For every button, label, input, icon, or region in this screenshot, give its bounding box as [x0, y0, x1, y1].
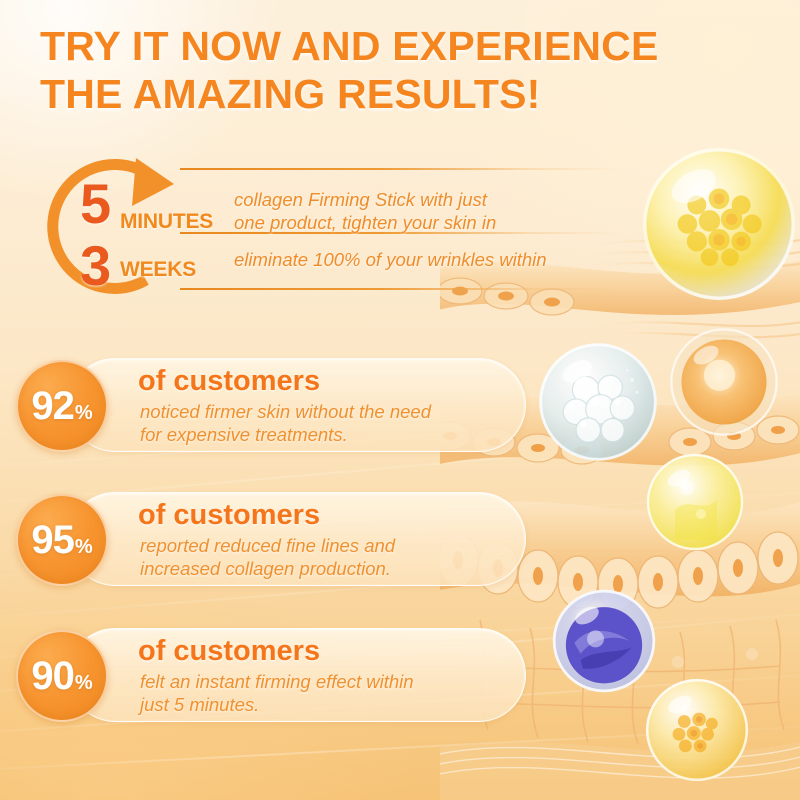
stat-value-90: 90	[31, 656, 74, 696]
timing-unit-weeks: WEEKS	[120, 258, 196, 282]
stat-symbol-90: %	[75, 673, 93, 693]
timing-unit-minutes: MINUTES	[120, 210, 213, 234]
stat-title-95: of customers	[138, 500, 320, 532]
stat-body-95: reported reduced fine lines and increase…	[140, 534, 520, 581]
stat-body-90: felt an instant firming effect within ju…	[140, 670, 520, 717]
stat-percent-95: 95 %	[31, 520, 92, 560]
stat-percent-92: 92 %	[31, 386, 92, 426]
stat-body-92-line1: noticed firmer skin without the need	[140, 400, 520, 423]
headline-line-2: THE AMAZING RESULTS!	[40, 70, 740, 118]
stat-body-92-line2: for expensive treatments.	[140, 423, 520, 446]
stat-body-95-line2: increased collagen production.	[140, 557, 520, 580]
headline-line-1: TRY IT NOW AND EXPERIENCE	[40, 22, 740, 70]
amber-bubble-icon	[668, 326, 780, 438]
stat-body-90-line1: felt an instant firming effect within	[140, 670, 520, 693]
timing-number-minutes: 5	[80, 176, 111, 232]
page-title: TRY IT NOW AND EXPERIENCE THE AMAZING RE…	[40, 22, 740, 119]
stat-percent-90: 90 %	[31, 656, 92, 696]
stat-badge-92: 92 %	[16, 360, 108, 452]
stat-body-90-line2: just 5 minutes.	[140, 693, 520, 716]
stat-symbol-92: %	[75, 403, 93, 423]
stat-symbol-95: %	[75, 537, 93, 557]
divider-bottom	[180, 288, 620, 290]
stat-value-95: 95	[31, 520, 74, 560]
yellow-serum-bubble-icon	[645, 452, 745, 552]
stat-body-92: noticed firmer skin without the need for…	[140, 400, 520, 447]
stat-title-92: of customers	[138, 366, 320, 398]
stat-card-90: 90 % of customers felt an instant firmin…	[16, 628, 526, 722]
poster-canvas: TRY IT NOW AND EXPERIENCE THE AMAZING RE…	[0, 0, 800, 800]
blue-swirl-bubble-icon	[551, 588, 657, 694]
timing-number-weeks: 3	[80, 238, 111, 294]
honeycomb-bubble-bottom-icon	[644, 677, 750, 783]
divider-top	[180, 168, 620, 170]
timing-desc-minutes-line2: one product, tighten your skin in	[234, 211, 496, 234]
timing-desc-minutes-line1: collagen Firming Stick with just	[234, 188, 496, 211]
stat-value-92: 92	[31, 386, 74, 426]
stat-body-95-line1: reported reduced fine lines and	[140, 534, 520, 557]
stat-badge-90: 90 %	[16, 630, 108, 722]
timing-desc-minutes: collagen Firming Stick with just one pro…	[234, 188, 496, 235]
stat-card-95: 95 % of customers reported reduced fine …	[16, 492, 526, 586]
water-droplet-bubble-icon	[537, 341, 659, 463]
stat-badge-95: 95 %	[16, 494, 108, 586]
honeycomb-bubble-top-icon	[640, 145, 798, 303]
timing-desc-weeks: eliminate 100% of your wrinkles within	[234, 248, 547, 271]
timing-claims-block: 5 MINUTES collagen Firming Stick with ju…	[28, 148, 648, 308]
timing-desc-weeks-line1: eliminate 100% of your wrinkles within	[234, 248, 547, 271]
stat-card-92: 92 % of customers noticed firmer skin wi…	[16, 358, 526, 452]
stat-title-90: of customers	[138, 636, 320, 668]
